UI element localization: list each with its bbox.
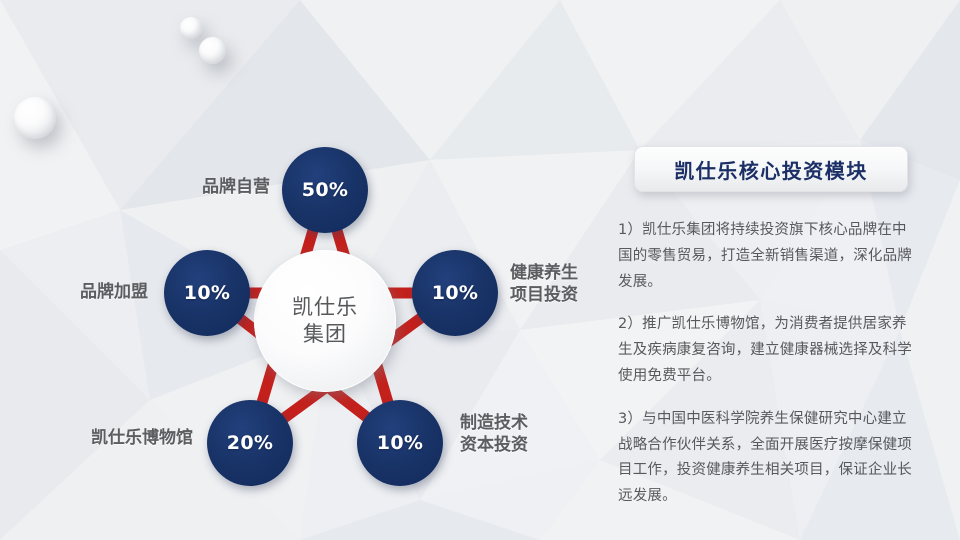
node-label-manufacturing-tech-capital: 制造技术 资本投资: [460, 412, 580, 456]
node-manufacturing-tech-capital[interactable]: 10%: [357, 400, 443, 486]
hub-circle: 凯仕乐 集团: [254, 250, 396, 392]
node-value-kaishile-museum: 20%: [227, 432, 273, 454]
node-value-health-wellness-investment: 10%: [432, 282, 478, 304]
hub-label-line2: 集团: [303, 321, 347, 348]
node-label-kaishile-museum: 凯仕乐博物馆: [45, 427, 193, 449]
panel-title-banner: 凯仕乐核心投资模块: [634, 146, 908, 192]
panel-paragraph-1: 1）凯仕乐集团将持续投资旗下核心品牌在中国的零售贸易，打造全新销售渠道，深化品牌…: [618, 218, 918, 295]
slide-canvas: 凯仕乐 集团 50% 品牌自营 10% 健康养生 项目投资 10% 制造技术 资…: [0, 0, 960, 540]
info-panel: 凯仕乐核心投资模块 1）凯仕乐集团将持续投资旗下核心品牌在中国的零售贸易，打造全…: [612, 146, 932, 527]
node-label-brand-franchise: 品牌加盟: [18, 281, 148, 303]
node-label-brand-self-operation: 品牌自营: [120, 176, 270, 198]
panel-paragraph-list: 1）凯仕乐集团将持续投资旗下核心品牌在中国的零售贸易，打造全新销售渠道，深化品牌…: [618, 218, 932, 510]
panel-paragraph-2: 2）推广凯仕乐博物馆，为消费者提供居家养生及疾病康复咨询，建立健康器械选择及科学…: [618, 312, 918, 389]
node-brand-franchise[interactable]: 10%: [164, 250, 250, 336]
panel-paragraph-3: 3）与中国中医科学院养生保健研究中心建立战略合作伙伴关系，全面开展医疗按摩保健项…: [618, 407, 918, 510]
node-value-brand-franchise: 10%: [184, 282, 230, 304]
panel-title: 凯仕乐核心投资模块: [674, 155, 868, 184]
investment-star-diagram: 凯仕乐 集团 50% 品牌自营 10% 健康养生 项目投资 10% 制造技术 资…: [0, 0, 620, 540]
node-kaishile-museum[interactable]: 20%: [207, 400, 293, 486]
node-value-brand-self-operation: 50%: [302, 179, 348, 201]
node-brand-self-operation[interactable]: 50%: [282, 147, 368, 233]
node-health-wellness-investment[interactable]: 10%: [412, 250, 498, 336]
hub-label-line1: 凯仕乐: [292, 294, 358, 321]
node-value-manufacturing-tech-capital: 10%: [377, 432, 423, 454]
